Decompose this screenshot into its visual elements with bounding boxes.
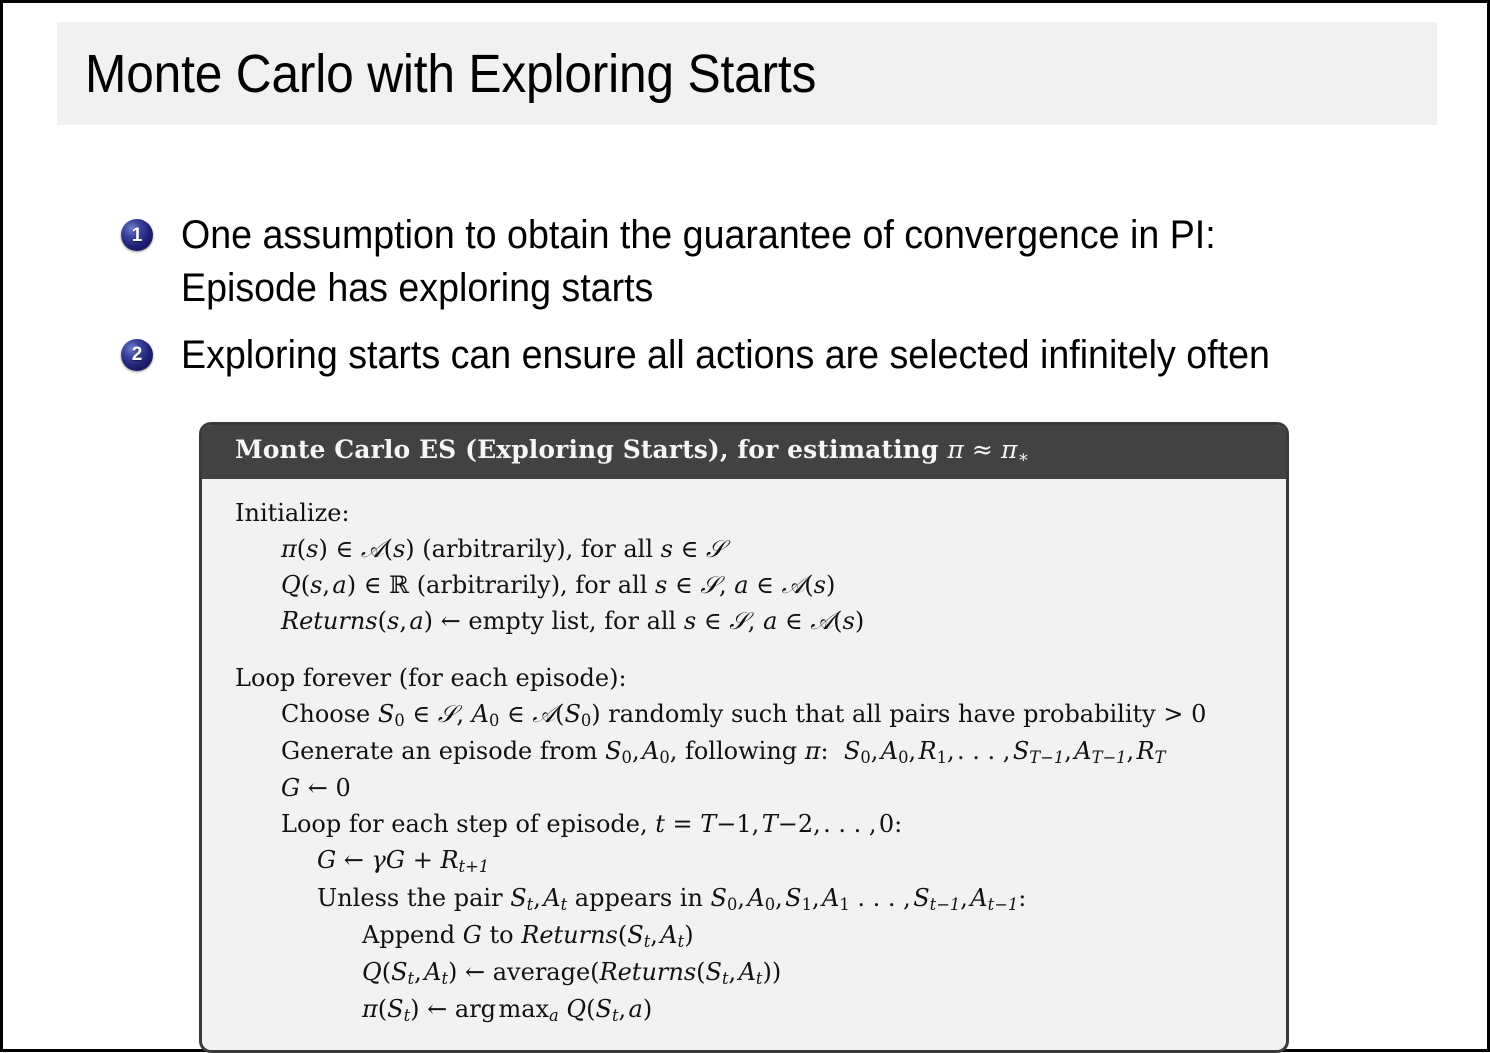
algo-line-initialize: Initialize: xyxy=(202,495,1286,531)
algo-line-q-update: Q(St, At) ← average(Returns(St, At)) xyxy=(202,954,1286,991)
algo-line-policy-update: π(St) ← arg maxa Q(St, a) xyxy=(202,991,1286,1028)
algo-line-loop-step: Loop for each step of episode, t = T−1, … xyxy=(202,806,1286,842)
spacer xyxy=(202,640,1286,660)
algo-line-g-update: G ← γG + Rt+1 xyxy=(202,842,1286,879)
algorithm-body: Initialize: π(s) ∈ 𝒜(s) (arbitrarily), f… xyxy=(202,479,1286,1050)
algo-line-loop-forever: Loop forever (for each episode): xyxy=(202,660,1286,696)
list-item: 2 Exploring starts can ensure all action… xyxy=(121,329,1421,382)
slide-title-bar: Monte Carlo with Exploring Starts xyxy=(57,22,1437,125)
algorithm-box: Monte Carlo ES (Exploring Starts), for e… xyxy=(199,422,1289,1053)
algo-line-init-policy: π(s) ∈ 𝒜(s) (arbitrarily), for all s ∈ 𝒮 xyxy=(202,531,1286,567)
bullet-text: One assumption to obtain the guarantee o… xyxy=(181,209,1216,315)
algo-line-g-init: G ← 0 xyxy=(202,770,1286,806)
bullet-list: 1 One assumption to obtain the guarantee… xyxy=(121,209,1421,395)
algo-line-init-q: Q(s, a) ∈ ℝ (arbitrarily), for all s ∈ 𝒮… xyxy=(202,567,1286,603)
algo-line-init-returns: Returns(s, a) ← empty list, for all s ∈ … xyxy=(202,603,1286,639)
algorithm-header-label: Monte Carlo ES (Exploring Starts), for e… xyxy=(235,435,947,464)
bullet-number-badge: 1 xyxy=(121,219,153,251)
algorithm-header-math: π ≈ π∗ xyxy=(947,435,1029,464)
algo-line-unless: Unless the pair St, At appears in S0, A0… xyxy=(202,880,1286,917)
slide: Monte Carlo with Exploring Starts 1 One … xyxy=(0,0,1490,1052)
bullet-number-badge: 2 xyxy=(121,339,153,371)
bullet-text: Exploring starts can ensure all actions … xyxy=(181,329,1270,382)
algorithm-box-header: Monte Carlo ES (Exploring Starts), for e… xyxy=(202,425,1286,479)
list-item: 1 One assumption to obtain the guarantee… xyxy=(121,209,1421,315)
algo-line-choose: Choose S0 ∈ 𝒮, A0 ∈ 𝒜(S0) randomly such … xyxy=(202,696,1286,733)
algo-line-generate-episode: Generate an episode from S0, A0, followi… xyxy=(202,733,1286,770)
algo-line-append-return: Append G to Returns(St, At) xyxy=(202,917,1286,954)
page-title: Monte Carlo with Exploring Starts xyxy=(85,43,816,105)
